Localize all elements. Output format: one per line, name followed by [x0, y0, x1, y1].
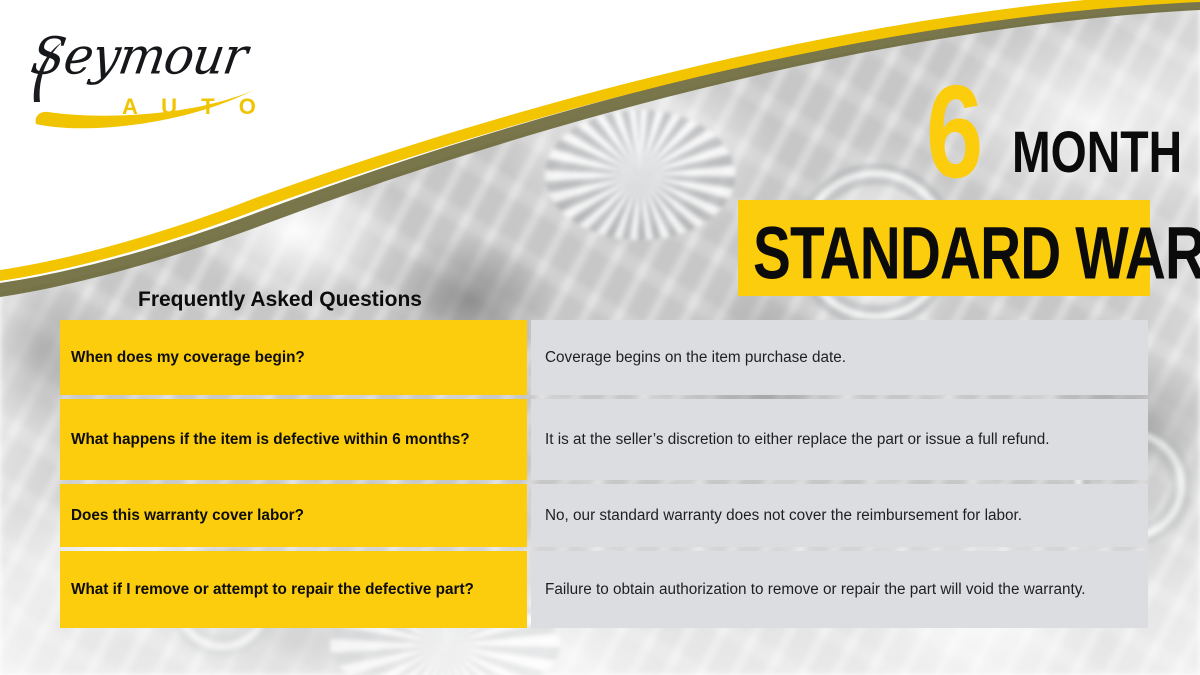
faq-question-text: Does this warranty cover labor? — [71, 505, 304, 526]
faq-answer-text: Coverage begins on the item purchase dat… — [545, 347, 1134, 369]
faq-answer-cell: Coverage begins on the item purchase dat… — [531, 320, 1148, 395]
faq-section-title: Frequently Asked Questions — [138, 288, 422, 312]
faq-question-cell[interactable]: Does this warranty cover labor? — [60, 484, 527, 547]
table-row: When does my coverage begin? Coverage be… — [60, 320, 1148, 395]
table-row: Does this warranty cover labor? No, our … — [60, 484, 1148, 547]
faq-answer-text: Failure to obtain authorization to remov… — [545, 579, 1134, 601]
faq-question-cell[interactable]: When does my coverage begin? — [60, 320, 527, 395]
table-row: What happens if the item is defective wi… — [60, 399, 1148, 480]
faq-answer-cell: It is at the seller’s discretion to eith… — [531, 399, 1148, 480]
faq-answer-cell: Failure to obtain authorization to remov… — [531, 551, 1148, 628]
faq-answer-text: No, our standard warranty does not cover… — [545, 505, 1134, 527]
warranty-slide: Seymour A U T O 6 MONTH STANDARD WARRANT… — [0, 0, 1200, 675]
logo-swoosh-icon — [18, 16, 278, 131]
warranty-duration-unit: MONTH — [1012, 124, 1182, 182]
faq-question-text: What happens if the item is defective wi… — [71, 429, 470, 450]
table-row: What if I remove or attempt to repair th… — [60, 551, 1148, 628]
faq-answer-text: It is at the seller’s discretion to eith… — [545, 429, 1134, 451]
faq-question-text: When does my coverage begin? — [71, 347, 305, 368]
faq-question-cell[interactable]: What happens if the item is defective wi… — [60, 399, 527, 480]
warranty-duration-number: 6 — [926, 72, 981, 192]
faq-question-text: What if I remove or attempt to repair th… — [71, 579, 474, 600]
seymour-auto-logo[interactable]: Seymour A U T O — [18, 16, 278, 131]
standard-warranty-label: STANDARD WARRANTY — [753, 216, 1200, 290]
standard-warranty-banner: STANDARD WARRANTY — [738, 200, 1150, 296]
faq-question-cell[interactable]: What if I remove or attempt to repair th… — [60, 551, 527, 628]
faq-table: When does my coverage begin? Coverage be… — [60, 320, 1148, 628]
faq-answer-cell: No, our standard warranty does not cover… — [531, 484, 1148, 547]
